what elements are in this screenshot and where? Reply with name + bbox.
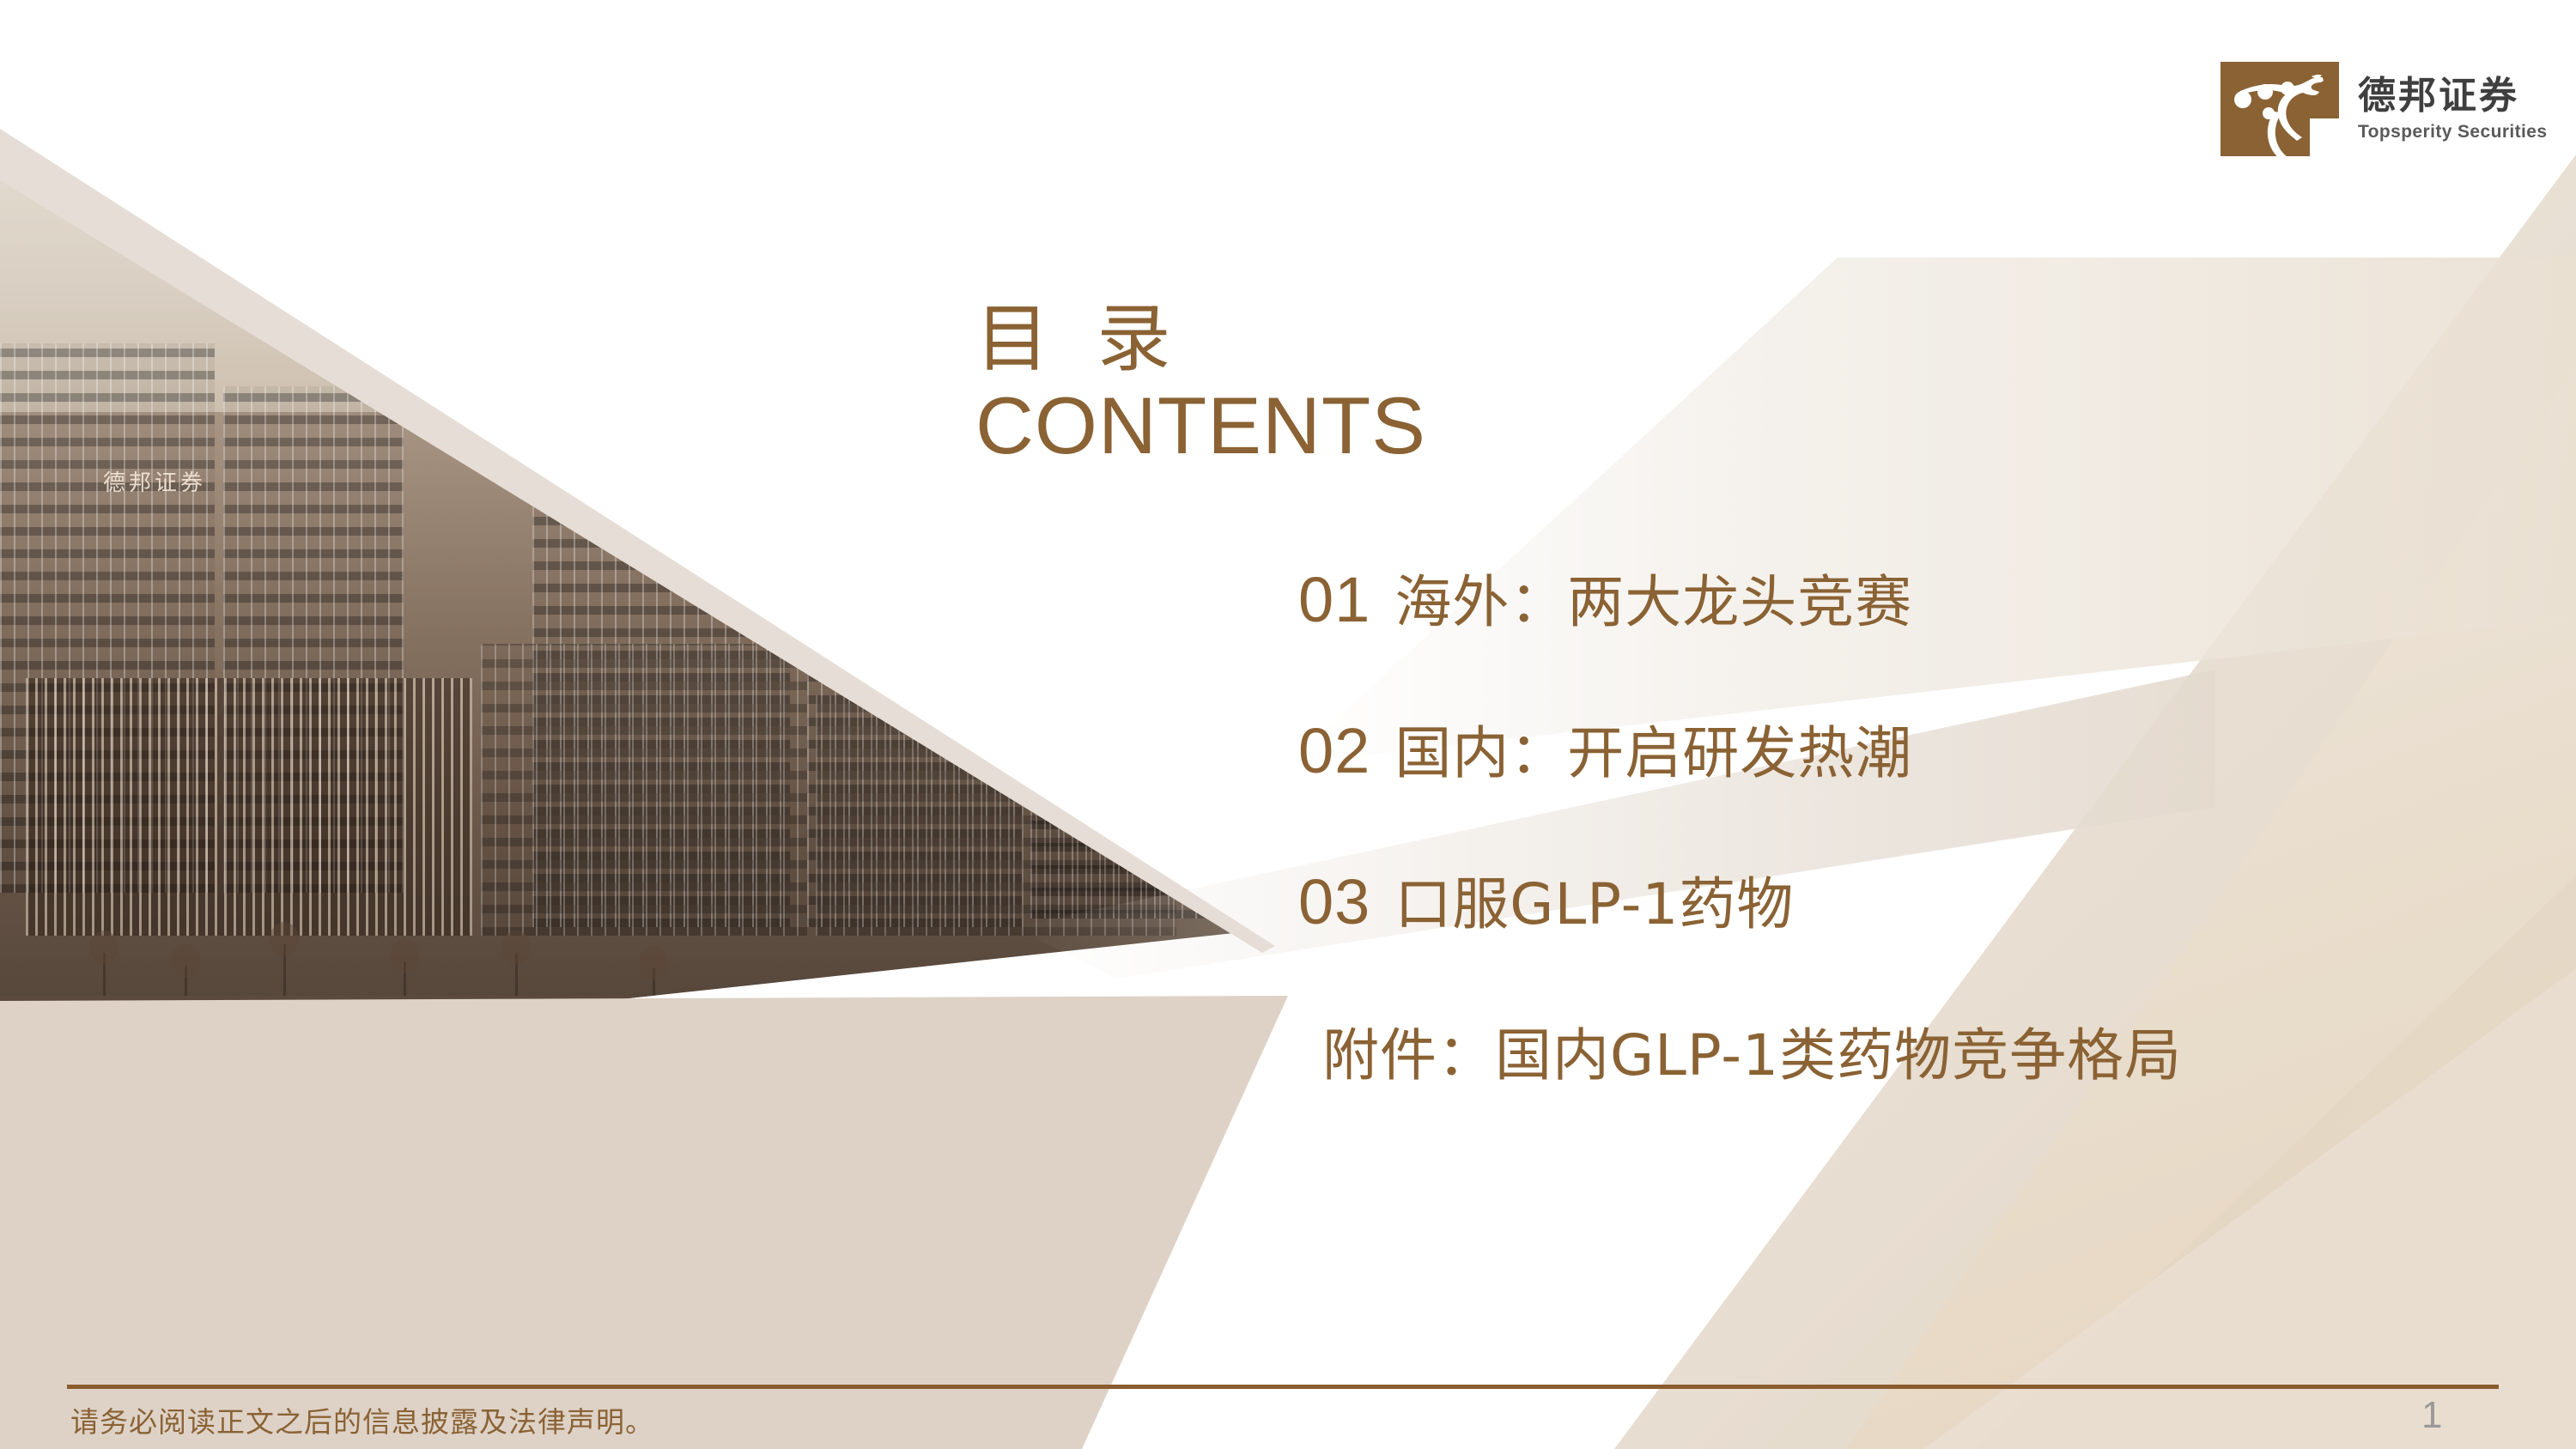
toc-item-03[interactable]: 03 口服GLP-1药物 [1298, 858, 2483, 1009]
brand-logo-text: 德邦证券 Topsperity Securities [2358, 77, 2547, 141]
page-number: 1 [2421, 1394, 2442, 1437]
toc-item-label: 口服GLP-1药物 [1394, 858, 1794, 941]
photo-building-facade [481, 644, 807, 936]
toc-item-01[interactable]: 01 海外：两大龙头竞赛 [1298, 556, 2483, 707]
toc-item-number: 02 [1298, 714, 1370, 787]
toc-item-label: 海外：两大龙头竞赛 [1394, 556, 1912, 639]
footer-disclaimer: 请务必阅读正文之后的信息披露及法律声明。 [70, 1399, 654, 1440]
toc-item-number: 01 [1298, 563, 1370, 636]
leopard-logo-icon [2221, 62, 2339, 156]
photo-sign-debang: 德邦证券 [103, 465, 206, 497]
toc-item-number: 03 [1298, 865, 1370, 938]
footer-divider [67, 1385, 2499, 1389]
page-title-en: CONTENTS [975, 381, 1426, 470]
photo-sign-hzbank: 杭州银行 [550, 431, 653, 463]
brand-name-cn: 德邦证券 [2358, 77, 2547, 115]
brand-logo: 德邦证券 Topsperity Securities [2221, 62, 2547, 156]
photo-building-facade [26, 678, 472, 936]
toc-item-appendix[interactable]: 附件：国内GLP-1类药物竞争格局 [1298, 1009, 2483, 1161]
photo-building-facade [816, 695, 1176, 936]
brand-name-en: Topsperity Securities [2358, 123, 2547, 141]
page-title: 目 录 CONTENTS [975, 302, 1426, 470]
toc-item-02[interactable]: 02 国内：开启研发热潮 [1298, 707, 2483, 858]
toc-item-label: 国内：开启研发热潮 [1394, 707, 1912, 790]
page-title-cn: 目 录 [975, 302, 1426, 376]
table-of-contents: 01 海外：两大龙头竞赛 02 国内：开启研发热潮 03 口服GLP-1药物 附… [1298, 556, 2483, 1161]
slide-contents-page: 德邦证券 杭州银行 TADAO [0, 0, 2576, 1449]
toc-item-label: 附件：国内GLP-1类药物竞争格局 [1322, 1009, 2182, 1092]
